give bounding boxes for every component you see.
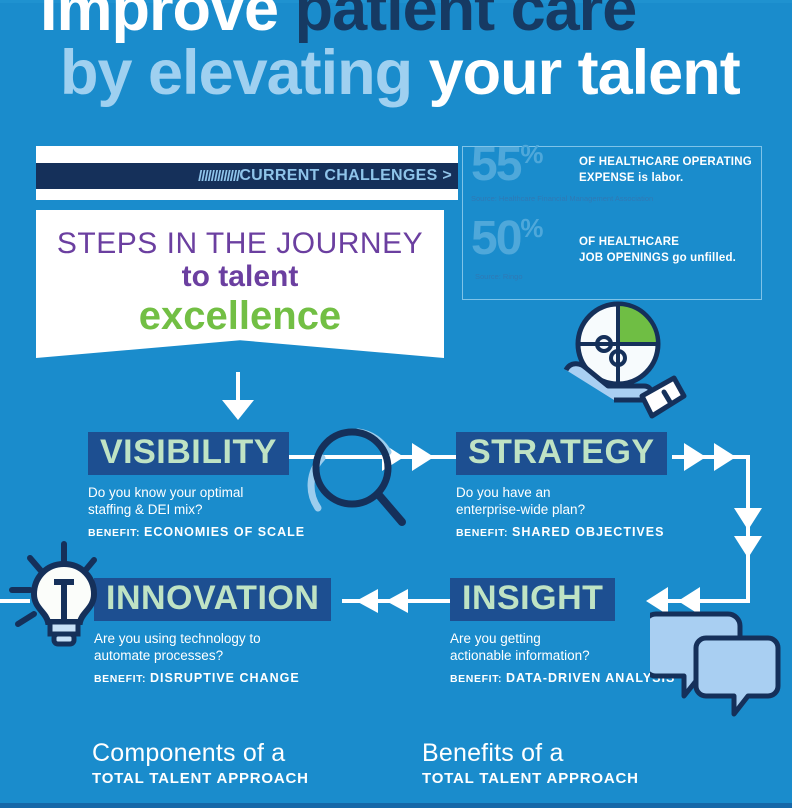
step-title-chip: STRATEGY <box>456 432 667 475</box>
step-innovation[interactable]: INNOVATION Are you using technology to a… <box>94 578 331 685</box>
stat-item: 55% OF HEALTHCARE OPERATING EXPENSE is l… <box>463 147 761 217</box>
step-title-chip: INSIGHT <box>450 578 615 621</box>
hatch-marks-icon: ///////////// <box>198 168 239 185</box>
stat-source: Source: Healthcare Financial Management … <box>471 195 653 203</box>
step-title: VISIBILITY <box>100 435 277 469</box>
step-question: Are you using technology to automate pro… <box>94 630 331 665</box>
benefit-key: BENEFIT: <box>88 527 140 539</box>
stat-source: Source: Ringo <box>475 273 523 281</box>
footer-column-benefits: Benefits of a TOTAL TALENT APPROACH <box>422 740 639 787</box>
stat-label: OF HEALTHCARE JOB OPENINGS go unfilled. <box>579 235 736 267</box>
footer-rule <box>0 803 792 808</box>
header: Improve patient care by elevating your t… <box>0 0 792 130</box>
banner-line-2: to talent <box>36 260 444 295</box>
footer-subtitle: TOTAL TALENT APPROACH <box>92 770 309 787</box>
stat-value: 55% <box>471 141 543 189</box>
lightbulb-icon <box>2 538 120 656</box>
headline-your-talent: your talent <box>429 38 740 108</box>
banner-line-3: excellence <box>36 294 444 338</box>
current-challenges-label: CURRENT CHALLENGES > <box>239 167 458 185</box>
magnifier-icon <box>296 424 412 540</box>
speech-bubbles-icon <box>650 606 782 718</box>
footer-title: Benefits of a <box>422 740 639 768</box>
benefit-key: BENEFIT: <box>450 673 502 685</box>
headline-by-elevating: by elevating <box>60 38 429 108</box>
footer-title: Components of a <box>92 740 309 768</box>
current-challenges-bar: ///////////// CURRENT CHALLENGES > <box>36 163 458 189</box>
benefit-key: BENEFIT: <box>456 527 508 539</box>
footer-column-components: Components of a TOTAL TALENT APPROACH <box>92 740 309 787</box>
stats-panel: 55% OF HEALTHCARE OPERATING EXPENSE is l… <box>462 146 762 300</box>
stat-item: 50% OF HEALTHCARE JOB OPENINGS go unfill… <box>463 217 761 287</box>
stat-value: 50% <box>471 215 543 263</box>
step-title: INSIGHT <box>462 581 603 615</box>
percent-sign: % <box>520 139 542 169</box>
footer: Components of a TOTAL TALENT APPROACH Be… <box>0 735 792 808</box>
puzzle-hand-icon <box>556 300 688 428</box>
footer-subtitle: TOTAL TALENT APPROACH <box>422 770 639 787</box>
step-benefit: BENEFIT: DISRUPTIVE CHANGE <box>94 671 331 685</box>
step-question: Do you know your optimal staffing & DEI … <box>88 484 305 519</box>
stat-label: OF HEALTHCARE OPERATING EXPENSE is labor… <box>579 155 752 187</box>
headline-line-2: by elevating your talent <box>60 42 740 105</box>
step-title-chip: INNOVATION <box>94 578 331 621</box>
step-benefit: BENEFIT: SHARED OBJECTIVES <box>456 525 667 539</box>
step-title: STRATEGY <box>468 435 655 469</box>
steps-banner: STEPS IN THE JOURNEY to talent excellenc… <box>36 210 444 358</box>
step-title: INNOVATION <box>106 581 319 615</box>
benefit-value: ECONOMIES OF SCALE <box>144 525 305 539</box>
benefit-key: BENEFIT: <box>94 673 146 685</box>
step-visibility[interactable]: VISIBILITY Do you know your optimal staf… <box>88 432 305 539</box>
banner-line-1: STEPS IN THE JOURNEY <box>36 228 444 260</box>
step-question: Are you getting actionable information? <box>450 630 675 665</box>
step-benefit: BENEFIT: DATA-DRIVEN ANALYSIS <box>450 671 675 685</box>
step-title-chip: VISIBILITY <box>88 432 289 475</box>
step-question: Do you have an enterprise-wide plan? <box>456 484 667 519</box>
step-benefit: BENEFIT: ECONOMIES OF SCALE <box>88 525 305 539</box>
percent-sign: % <box>520 213 542 243</box>
benefit-value: SHARED OBJECTIVES <box>512 525 664 539</box>
infographic-canvas: Improve patient care by elevating your t… <box>0 0 792 808</box>
step-insight[interactable]: INSIGHT Are you getting actionable infor… <box>450 578 675 685</box>
step-strategy[interactable]: STRATEGY Do you have an enterprise-wide … <box>456 432 667 539</box>
benefit-value: DISRUPTIVE CHANGE <box>150 671 300 685</box>
headline-line-1: Improve patient care <box>40 0 636 41</box>
